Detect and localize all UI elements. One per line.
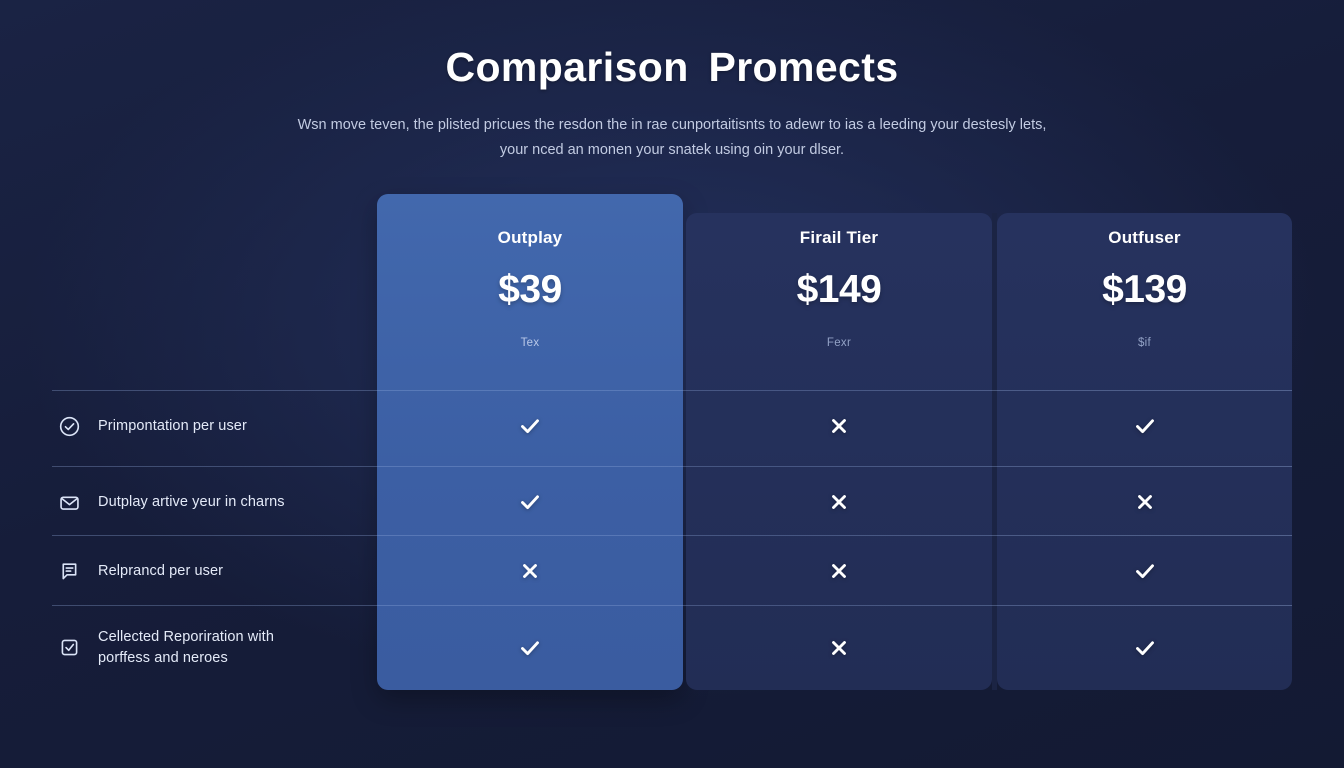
page-title: Comparison Promects [0,44,1344,91]
table-row: Primpontation per user [52,390,1292,462]
table-row: Cellected Reporiration with porffess and… [52,605,1292,690]
cell-2-2 [686,466,992,538]
check-icon [1132,558,1158,584]
tier-note-3: $if [997,337,1292,349]
tier-name-1: Outplay [377,228,683,248]
cross-icon [826,413,852,439]
table-row: Relprancd per user [52,535,1292,607]
cell-2-3 [997,466,1292,538]
cross-icon [826,489,852,515]
tier-note-1: Tex [377,337,683,349]
cell-1-3 [997,390,1292,462]
feature-text-3: Relprancd per user [98,561,223,582]
page-subtitle: Wsn move teven, the plisted pricues the … [257,113,1087,163]
feature-text-1: Primpontation per user [98,416,247,437]
pricing-column-header-2[interactable]: Firail Tier $149 Fexr [686,194,992,349]
page-header: Comparison Promects Wsn move teven, the … [0,0,1344,163]
cell-3-2 [686,535,992,607]
check-icon [517,489,543,515]
check-icon [1132,635,1158,661]
cell-3-1 [377,535,683,607]
cell-4-2 [686,605,992,690]
feature-label-4: Cellected Reporiration with porffess and… [52,605,372,690]
check-icon [1132,413,1158,439]
cell-1-2 [686,390,992,462]
document-icon [57,559,82,584]
check-icon [517,635,543,661]
cross-icon [826,635,852,661]
pricing-column-header-1[interactable]: Outplay $39 Tex [377,194,683,349]
tier-note-2: Fexr [686,337,992,349]
tier-price-1: $39 [377,268,683,312]
check-icon [517,413,543,439]
cell-1-1 [377,390,683,462]
tier-price-3: $139 [997,268,1292,312]
cell-3-3 [997,535,1292,607]
comparison-table: Outplay $39 Tex Firail Tier $149 Fexr Ou… [52,194,1292,690]
feature-label-3: Relprancd per user [52,535,372,607]
feature-label-1: Primpontation per user [52,390,372,462]
checkbox-icon [57,635,82,660]
cross-icon [1132,489,1158,515]
feature-text-4: Cellected Reporiration with porffess and… [98,627,274,669]
cross-icon [826,558,852,584]
comparison-header-row: Outplay $39 Tex Firail Tier $149 Fexr Ou… [52,194,1292,390]
tier-price-2: $149 [686,268,992,312]
feature-label-2: Dutplay artive yeur in charns [52,466,372,538]
cell-4-1 [377,605,683,690]
table-row: Dutplay artive yeur in charns [52,466,1292,538]
page-subtitle-line-1: Wsn move teven, the plisted pricues the … [257,113,1087,138]
envelope-icon [57,490,82,515]
feature-text-4-line-2: porffess and neroes [98,650,228,666]
pricing-column-header-3[interactable]: Outfuser $139 $if [997,194,1292,349]
feature-text-2: Dutplay artive yeur in charns [98,492,285,513]
feature-text-4-line-1: Cellected Reporiration with [98,629,274,645]
tier-name-3: Outfuser [997,228,1292,248]
comparison-grid: Outplay $39 Tex Firail Tier $149 Fexr Ou… [52,194,1292,690]
cell-4-3 [997,605,1292,690]
page-subtitle-line-2: your nced an monen your snatek using oin… [257,138,1087,163]
circle-check-icon [57,414,82,439]
cross-icon [517,558,543,584]
cell-2-1 [377,466,683,538]
tier-name-2: Firail Tier [686,228,992,248]
